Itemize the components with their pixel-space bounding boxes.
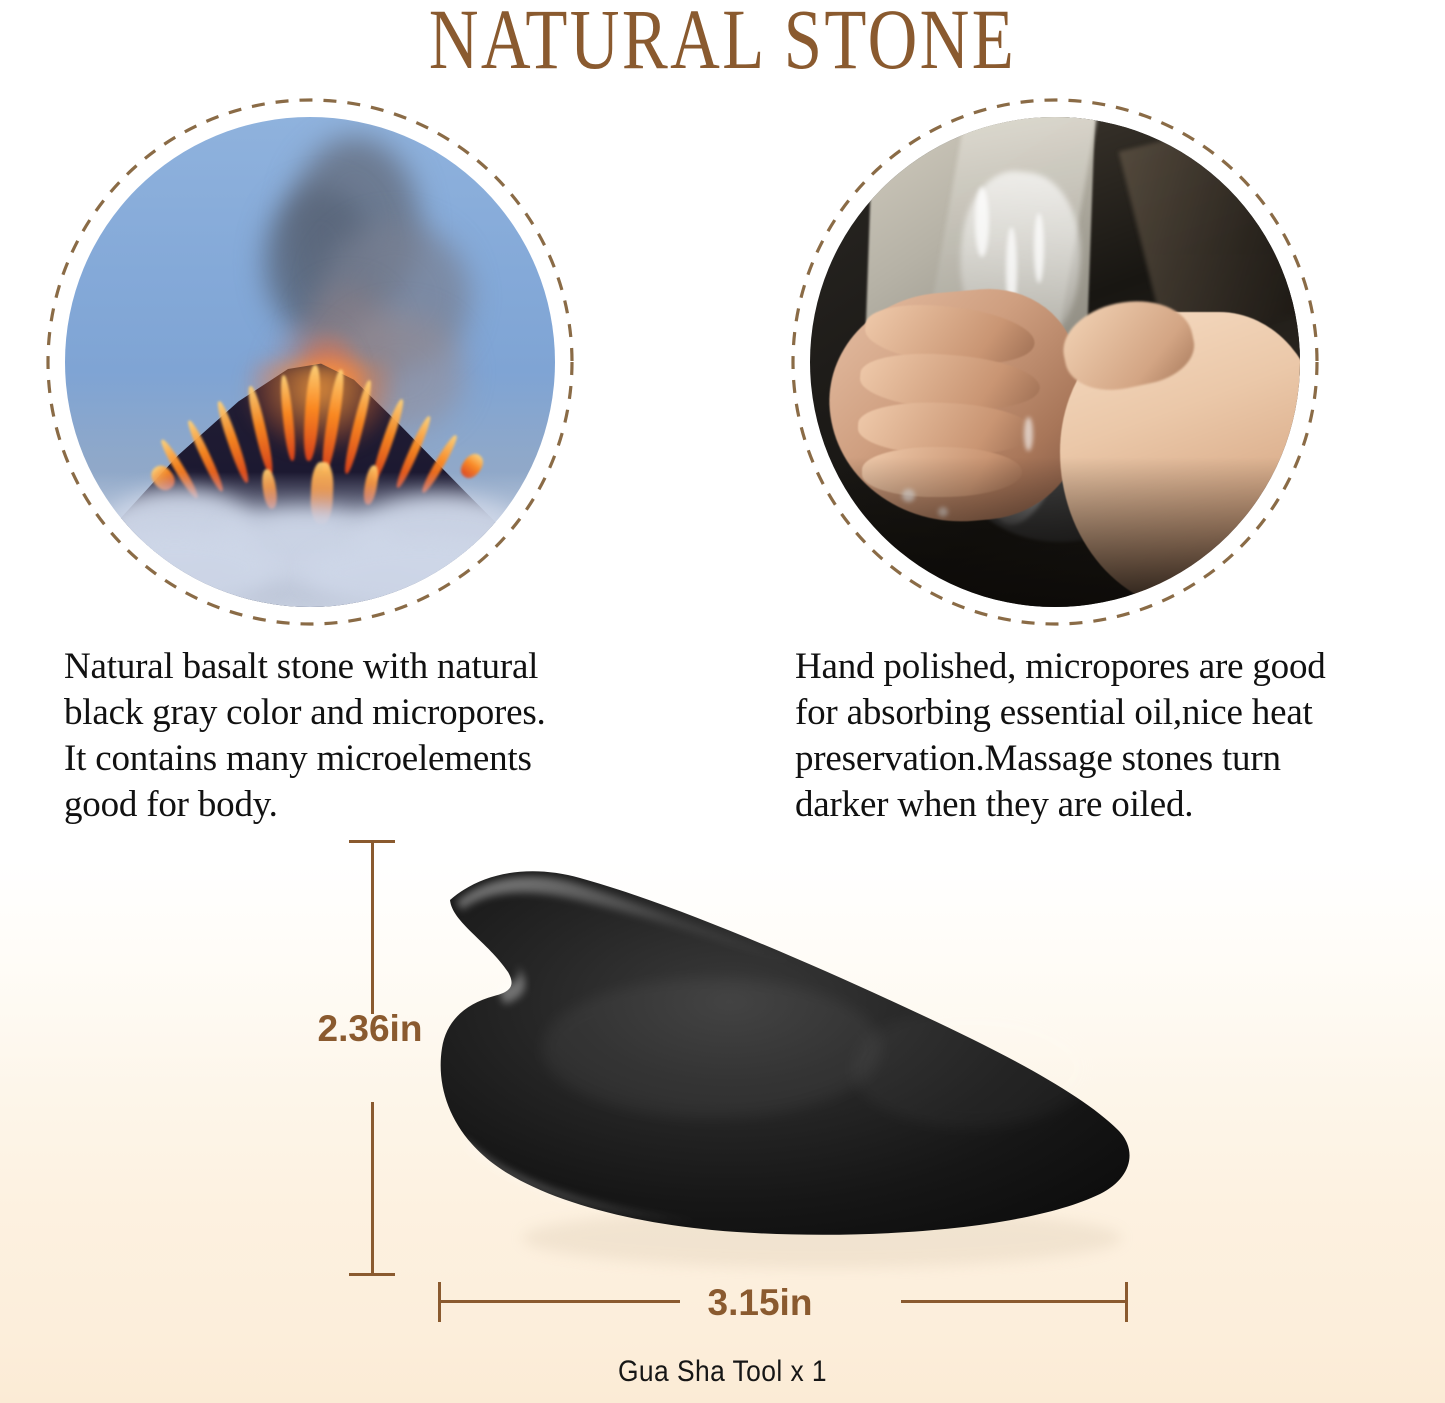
height-dimension-line xyxy=(349,840,395,1276)
width-dimension-shaft-right xyxy=(901,1300,1126,1303)
feature-caption-natural-basalt: Natural basalt stone with natural black … xyxy=(64,644,624,828)
width-dimension-shaft-left xyxy=(440,1300,680,1303)
height-dimension-shaft-upper xyxy=(371,842,374,1014)
hand-polishing-photo xyxy=(810,117,1300,607)
feature-caption-hand-polished: Hand polished, micropores are good for a… xyxy=(795,644,1395,828)
height-dimension-shaft-lower xyxy=(371,1102,374,1274)
height-dimension-label: 2.36in xyxy=(300,1008,440,1050)
product-caption: Gua Sha Tool x 1 xyxy=(87,1355,1359,1389)
feature-card-hand-polished xyxy=(791,98,1319,626)
feature-card-natural-basalt xyxy=(46,98,574,626)
height-dimension-cap-bottom xyxy=(349,1273,395,1276)
width-dimension-label: 3.15in xyxy=(660,1282,860,1324)
page-title: NATURAL STONE xyxy=(145,0,1301,82)
gua-sha-stone-image xyxy=(412,838,1172,1288)
volcano-photo xyxy=(65,117,555,607)
width-dimension-cap-right xyxy=(1125,1282,1128,1322)
